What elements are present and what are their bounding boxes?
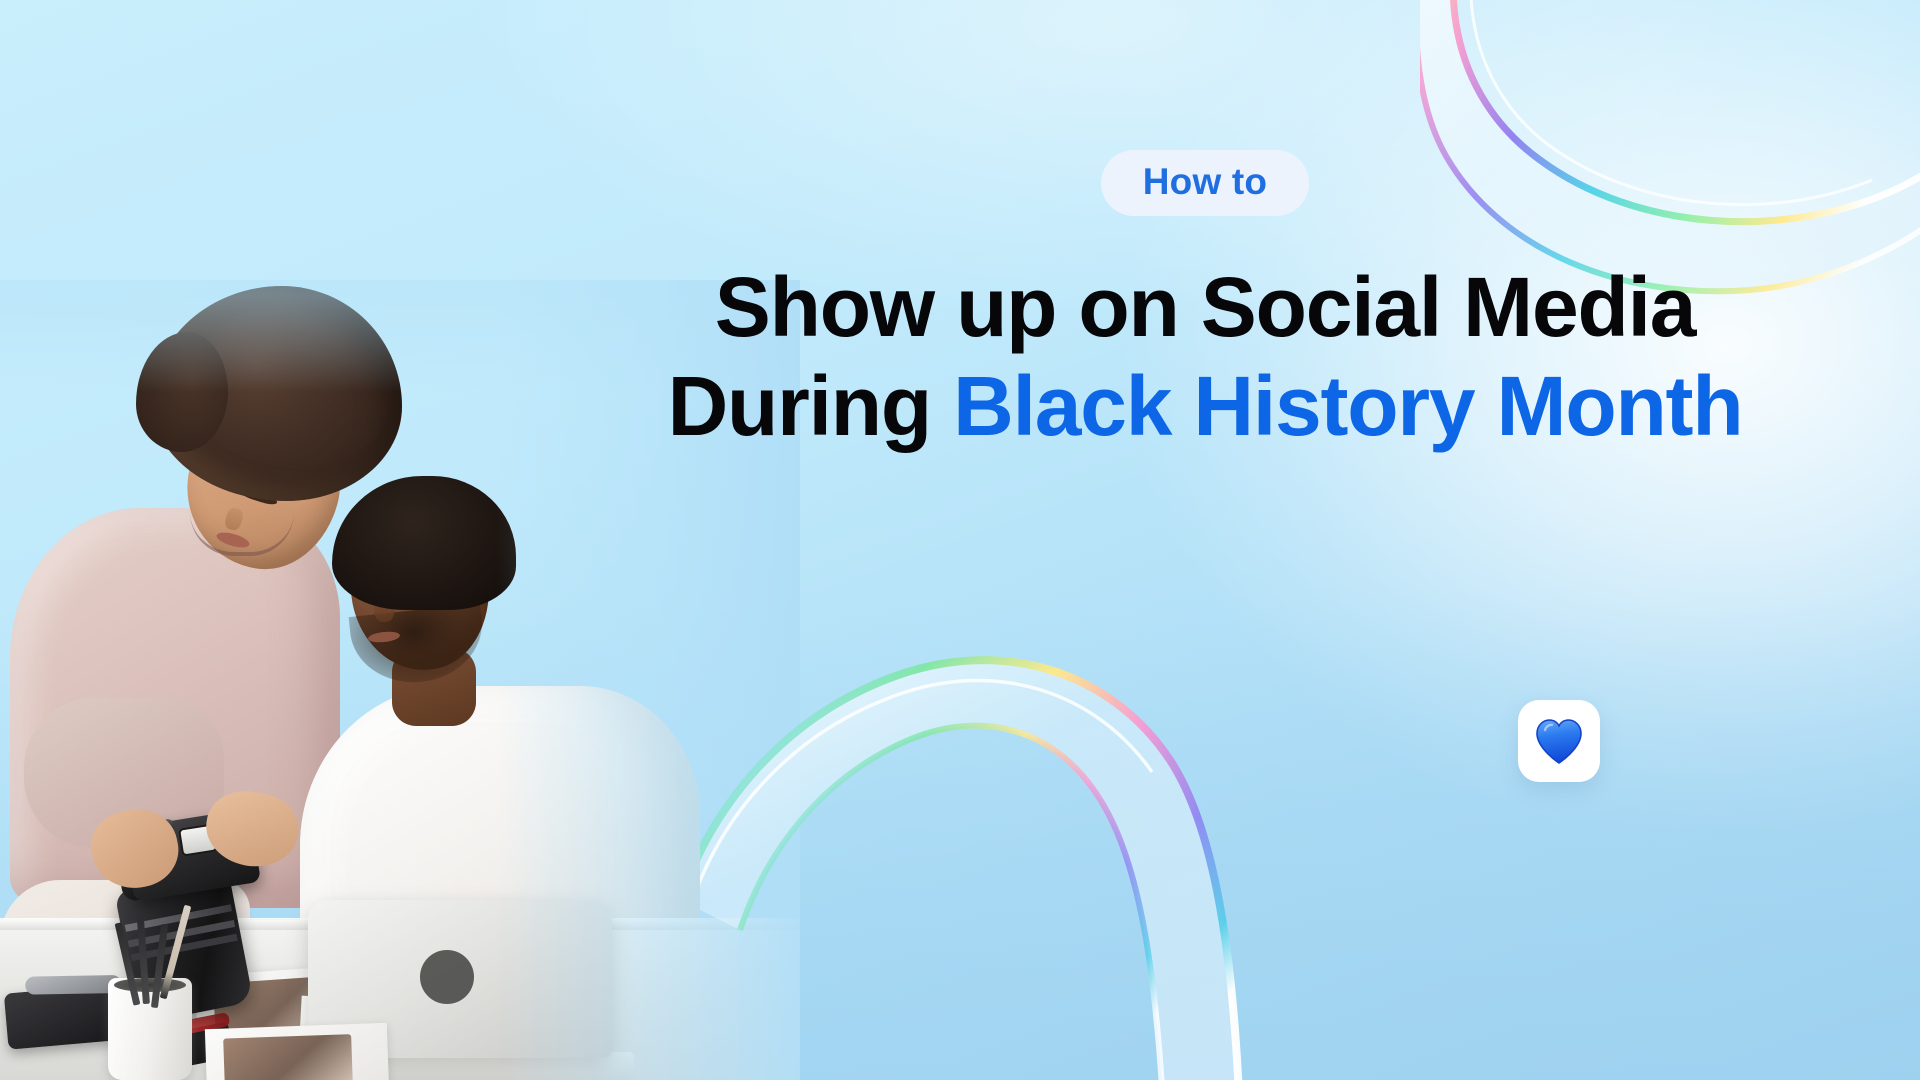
printed-photo	[205, 1023, 389, 1080]
headline-line-2-plain: During	[668, 359, 954, 453]
hero-banner: How to Show up on Social Media During Bl…	[0, 0, 1920, 1080]
heart-card[interactable]	[1518, 700, 1600, 782]
headline-line-1: Show up on Social Media	[540, 258, 1870, 357]
headline-line-1-text: Show up on Social Media	[715, 260, 1695, 354]
headline-line-2-accent: Black History Month	[953, 359, 1742, 453]
headline-line-2: During Black History Month	[540, 357, 1870, 456]
laptop-logo-icon	[420, 950, 474, 1004]
man-hair	[332, 476, 516, 610]
page-title: Show up on Social Media During Black His…	[540, 258, 1870, 456]
pencil-cup	[108, 978, 192, 1080]
blue-heart-icon	[1535, 718, 1583, 764]
woman-hair	[152, 286, 402, 501]
how-to-badge[interactable]: How to	[1101, 150, 1310, 216]
hero-content: How to Show up on Social Media During Bl…	[540, 150, 1870, 456]
